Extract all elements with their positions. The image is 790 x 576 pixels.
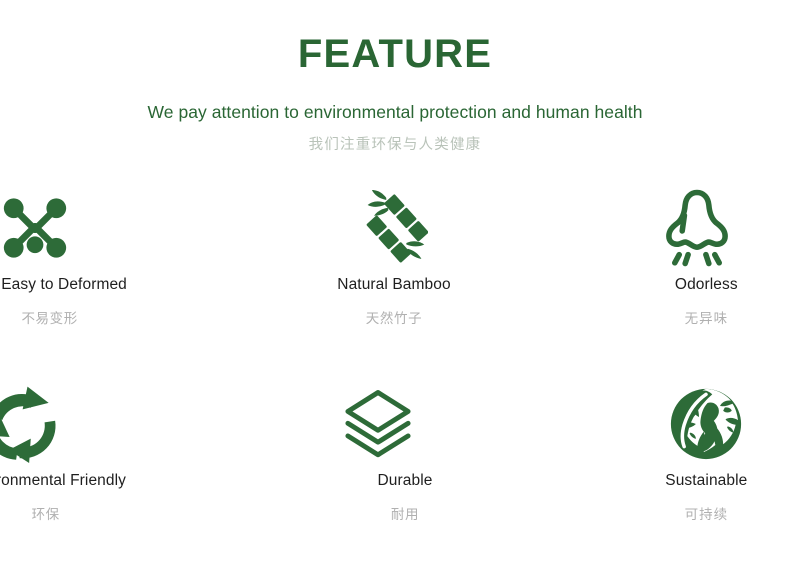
- feature-label-en: Not Easy to Deformed: [0, 276, 127, 295]
- globe-leaf-icon: [667, 376, 745, 472]
- layers-icon: [343, 376, 413, 472]
- feature-label-en: Natural Bamboo: [337, 276, 450, 295]
- feature-card-durable: Durable 耐用: [273, 372, 536, 568]
- page-title: FEATURE: [0, 34, 790, 74]
- feature-label-en: Durable: [378, 472, 433, 491]
- feature-card-environmental-friendly: Environmental Friendly 环保: [0, 372, 177, 568]
- feature-label-cn: 天然竹子: [366, 311, 422, 327]
- feature-label-en: Sustainable: [665, 472, 747, 491]
- feature-label-cn: 无异味: [685, 311, 729, 327]
- recycle-icon: [0, 376, 62, 472]
- section-header: FEATURE We pay attention to environmenta…: [0, 34, 790, 154]
- feature-card-sustainable: Sustainable 可持续: [575, 372, 790, 568]
- subtitle-chinese: 我们注重环保与人类健康: [0, 137, 790, 154]
- feature-section: FEATURE We pay attention to environmenta…: [0, 0, 790, 576]
- feature-label-cn: 耐用: [391, 507, 419, 523]
- feature-card-natural-bamboo: Natural Bamboo 天然竹子: [262, 176, 525, 372]
- feature-card-odorless: Odorless 无异味: [575, 176, 790, 372]
- feature-label-cn: 环保: [32, 507, 60, 523]
- feature-card-not-easy-to-deformed: Not Easy to Deformed 不易变形: [0, 176, 181, 372]
- feature-label-cn: 不易变形: [21, 311, 77, 327]
- feature-label-en: Odorless: [675, 276, 738, 295]
- subtitle-english: We pay attention to environmental protec…: [0, 102, 790, 123]
- bamboo-icon: [356, 180, 428, 276]
- feature-label-en: Environmental Friendly: [0, 472, 126, 491]
- feature-label-cn: 可持续: [685, 507, 729, 523]
- deform-nodes-icon: [0, 180, 73, 276]
- feature-grid: Not Easy to Deformed 不易变形: [0, 176, 790, 568]
- nose-icon: [660, 180, 734, 276]
